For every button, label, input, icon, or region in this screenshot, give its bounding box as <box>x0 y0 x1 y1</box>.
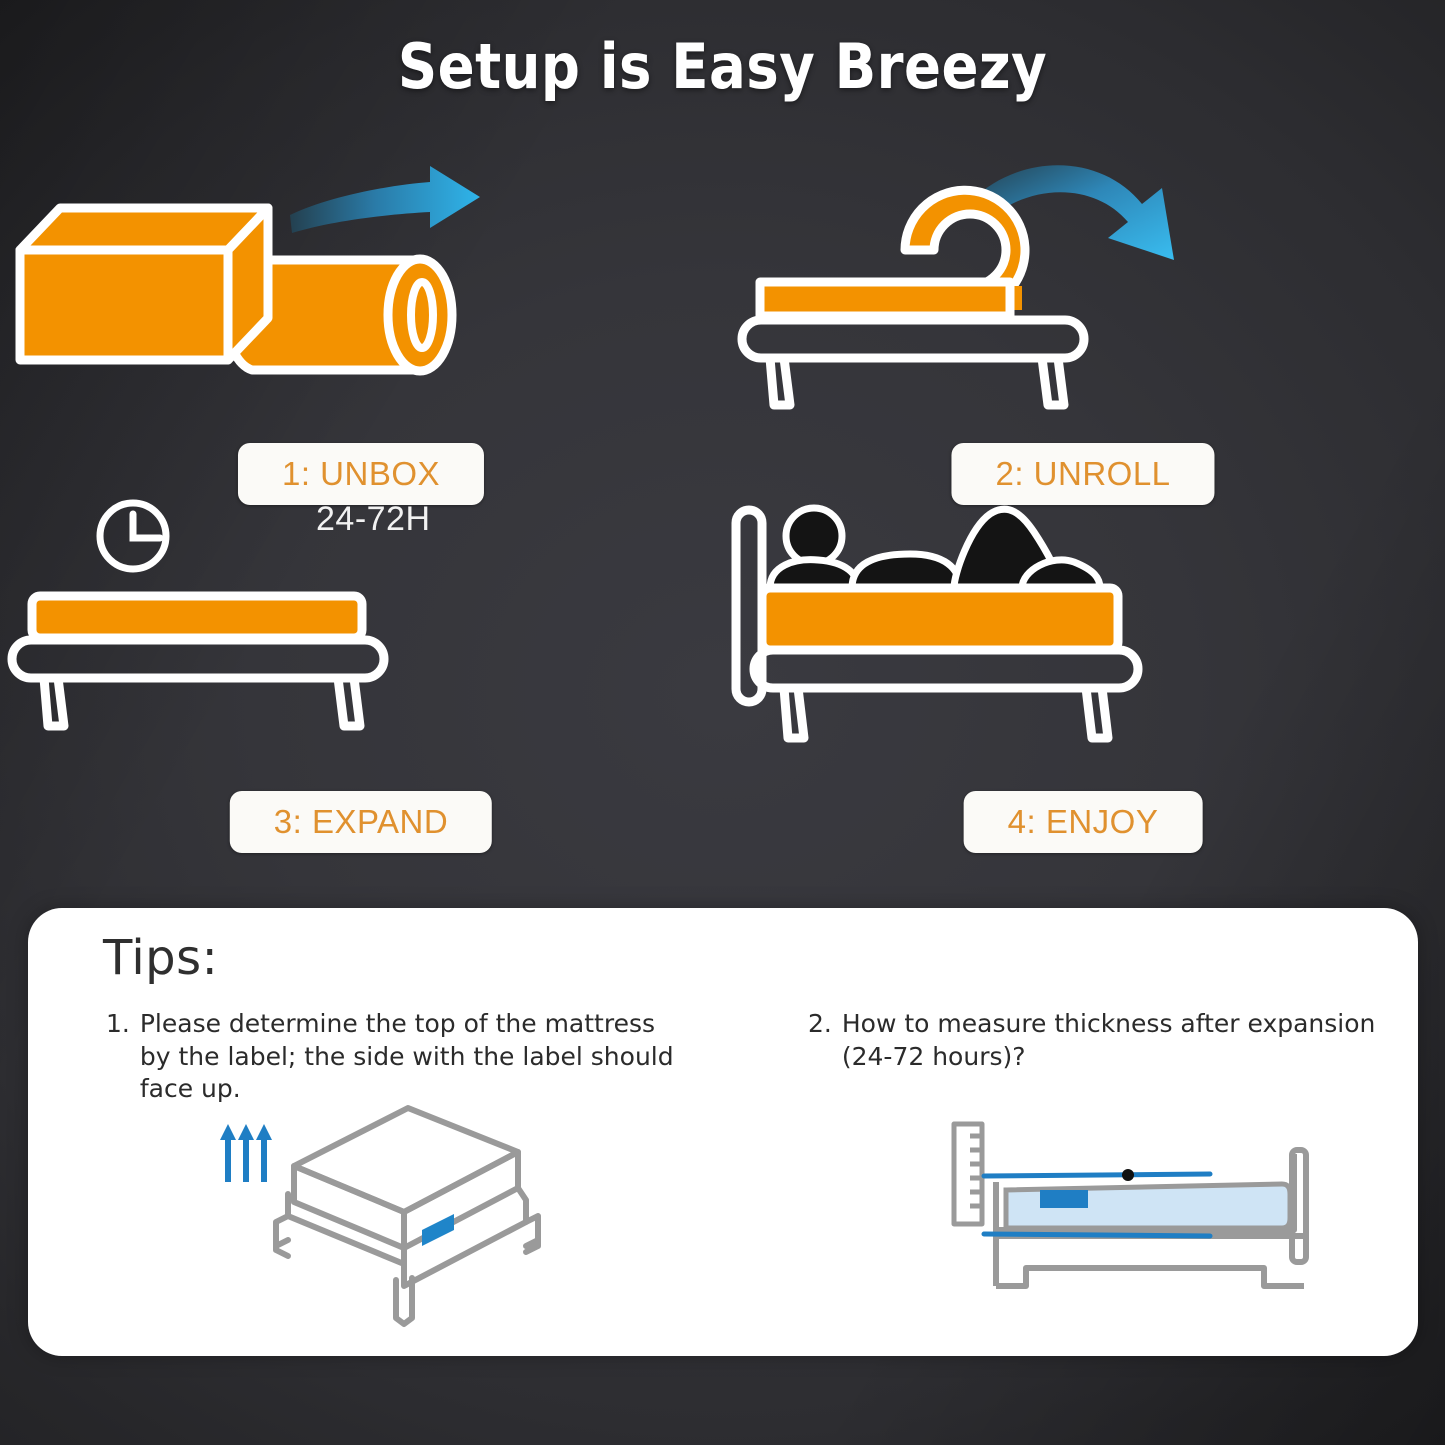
mattress-label-tag <box>1040 1190 1088 1208</box>
sleeping-person-shape <box>770 508 1100 588</box>
mattress-shape <box>32 596 362 638</box>
step-unroll: 2: UNROLL <box>722 140 1444 510</box>
box-with-rolled-mattress-icon <box>0 140 722 430</box>
tips-heading: Tips: <box>103 930 218 986</box>
mattress-label-tag <box>422 1214 454 1246</box>
ruler-icon <box>954 1124 982 1224</box>
infographic-page: Setup is Easy Breezy <box>0 0 1445 1445</box>
mattress-flat-shape <box>760 282 1010 316</box>
expand-timer-label: 24-72H <box>316 500 431 539</box>
box-shape <box>20 208 268 360</box>
tip-2-text: How to measure thickness after expansion… <box>842 1008 1388 1073</box>
bottom-measure-line <box>984 1234 1210 1236</box>
highest-point-dot <box>1122 1169 1134 1181</box>
steps-grid: 1: UNBOX <box>0 140 1445 880</box>
step-unbox: 1: UNBOX <box>0 140 722 510</box>
bed-frame-shape <box>742 320 1084 405</box>
bed-frame-shape <box>12 640 384 726</box>
person-sleeping-on-bed-icon <box>722 488 1444 778</box>
tip-1-number: 1. <box>106 1008 130 1041</box>
step-expand: 24-72H 3: EXPAND <box>0 488 722 858</box>
tips-card: Tips: 1. Please determine the top of the… <box>28 908 1418 1356</box>
isometric-mattress-with-label-tag-icon <box>208 1090 588 1330</box>
tip-2-number: 2. <box>808 1008 832 1041</box>
up-arrows-icon <box>220 1124 272 1182</box>
step-label-enjoy: 4: ENJOY <box>964 791 1203 853</box>
step-label-expand: 3: EXPAND <box>230 791 492 853</box>
mattress-shape <box>762 588 1118 650</box>
tip-item-2: 2. How to measure thickness after expans… <box>808 1008 1388 1073</box>
straight-arrow-right-icon <box>290 166 480 233</box>
bed-frame-shape <box>754 650 1138 738</box>
page-title: Setup is Easy Breezy <box>87 30 1359 103</box>
top-measure-line <box>984 1169 1210 1181</box>
clock-icon <box>100 503 166 569</box>
mattress-thickness-measurement-icon <box>948 1118 1368 1313</box>
step-enjoy: 4: ENJOY <box>722 488 1444 858</box>
mattress-isometric-shape <box>294 1108 518 1248</box>
mattress-unrolling-on-bed-icon <box>722 140 1444 430</box>
